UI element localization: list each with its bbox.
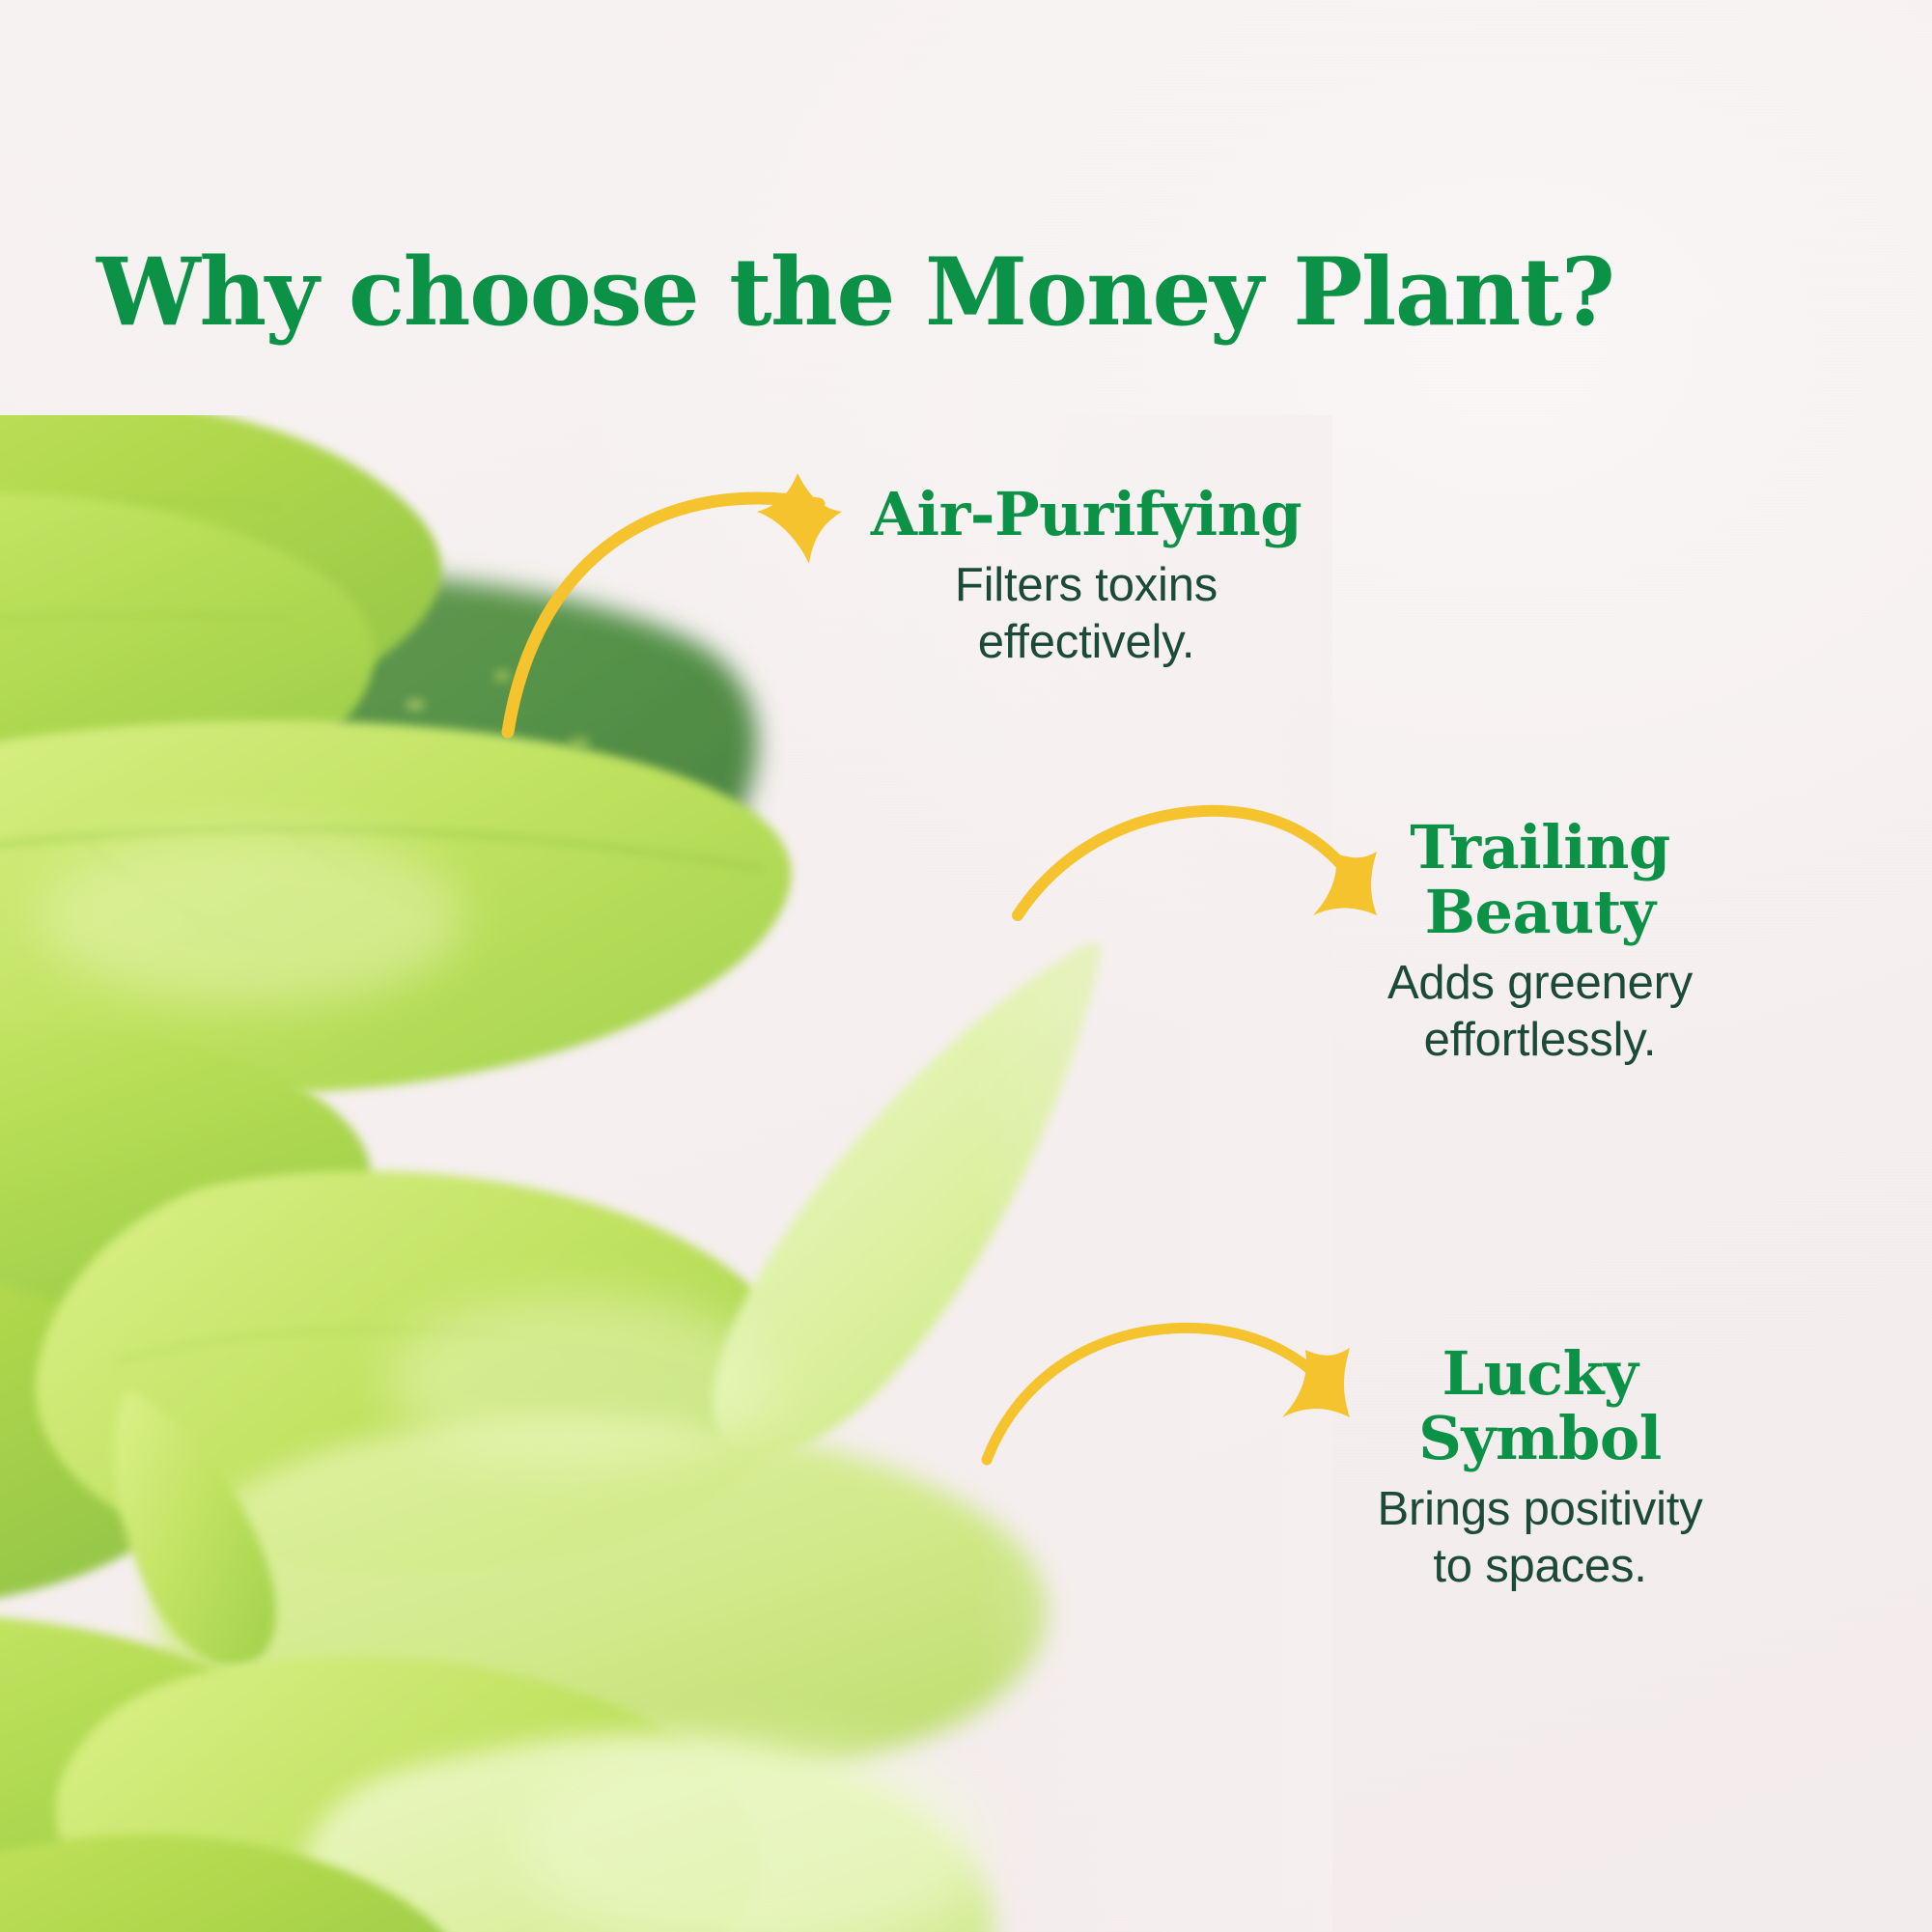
callout-air-purifying: Air-Purifying Filters toxins effectively… [859,483,1313,671]
poster-canvas: Why choose the Money Plant? Air-Purifyin… [0,0,1932,1932]
callout-lucky-symbol: Lucky Symbol Brings positivity to spaces… [1313,1342,1767,1595]
callout-body: Adds greenery effortlessly. [1313,955,1767,1069]
callout-body: Brings positivity to spaces. [1313,1481,1767,1595]
callout-title: Trailing Beauty [1313,816,1767,945]
callout-body: Filters toxins effectively. [859,557,1313,671]
callout-title: Air-Purifying [859,483,1313,547]
callout-trailing-beauty: Trailing Beauty Adds greenery effortless… [1313,816,1767,1069]
page-title: Why choose the Money Plant? [97,245,1738,340]
callout-title: Lucky Symbol [1313,1342,1767,1471]
